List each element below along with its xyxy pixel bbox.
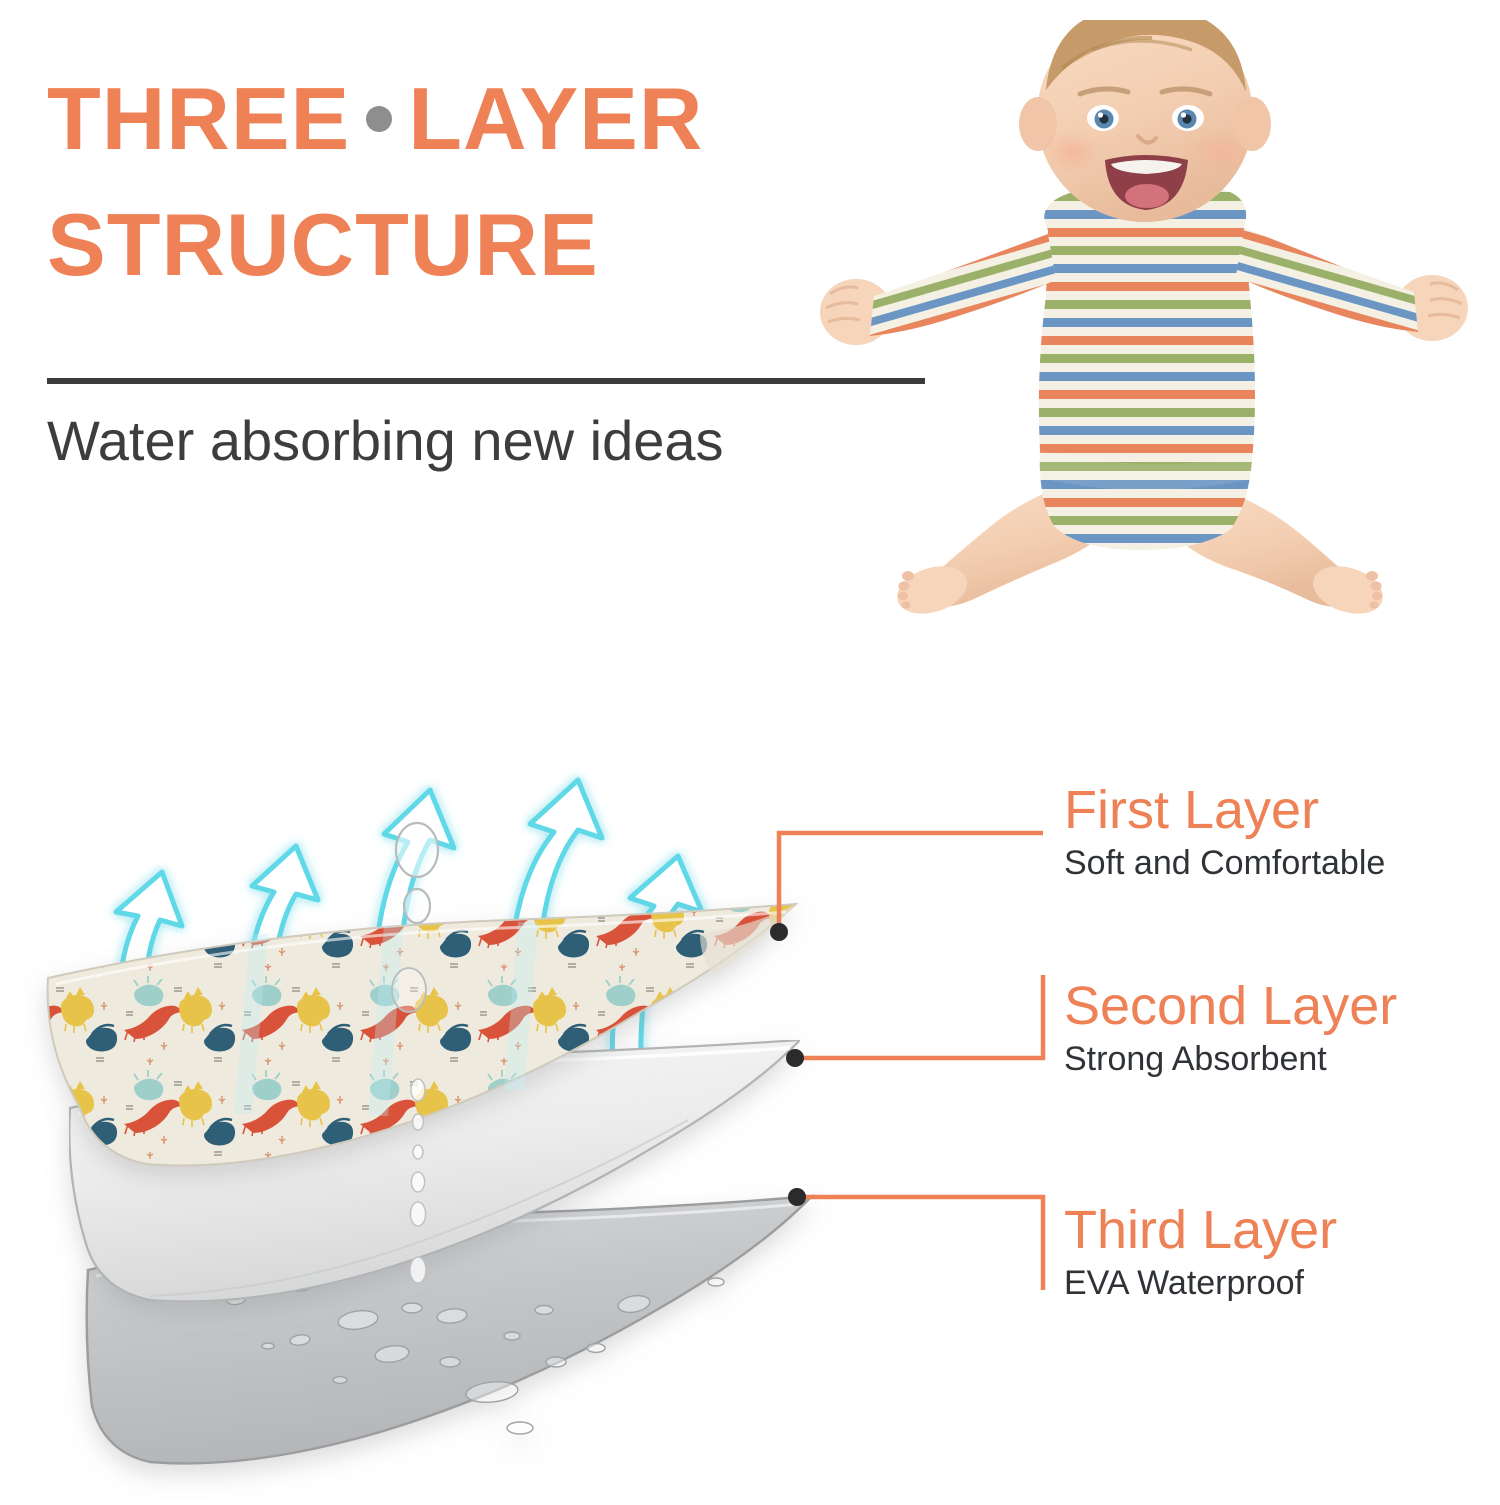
page-title-word-layer: LAYER: [408, 69, 703, 168]
label-block-third-layer: Third Layer EVA Waterproof: [1064, 1202, 1337, 1304]
title-separator-dot: [366, 106, 392, 132]
page-title-word-three: THREE: [47, 69, 350, 168]
label-subtitle-first-layer: Soft and Comfortable: [1064, 843, 1385, 884]
label-title-third-layer: Third Layer: [1064, 1202, 1337, 1259]
label-title-second-layer: Second Layer: [1064, 978, 1397, 1035]
title-divider-rule: [47, 378, 925, 384]
label-subtitle-third-layer: EVA Waterproof: [1064, 1263, 1337, 1304]
page-subtitle: Water absorbing new ideas: [47, 408, 724, 473]
layer-diagram: [0, 690, 1010, 1500]
infographic-canvas: THREELAYER STRUCTURE Water absorbing new…: [0, 0, 1500, 1500]
label-subtitle-second-layer: Strong Absorbent: [1064, 1039, 1397, 1080]
baby-head: [1019, 20, 1271, 222]
label-title-first-layer: First Layer: [1064, 782, 1385, 839]
baby-illustration: [800, 20, 1490, 620]
baby-photo: [800, 20, 1490, 620]
baby-onesie: [1020, 170, 1280, 570]
label-block-second-layer: Second Layer Strong Absorbent: [1064, 978, 1397, 1080]
label-block-first-layer: First Layer Soft and Comfortable: [1064, 782, 1385, 884]
